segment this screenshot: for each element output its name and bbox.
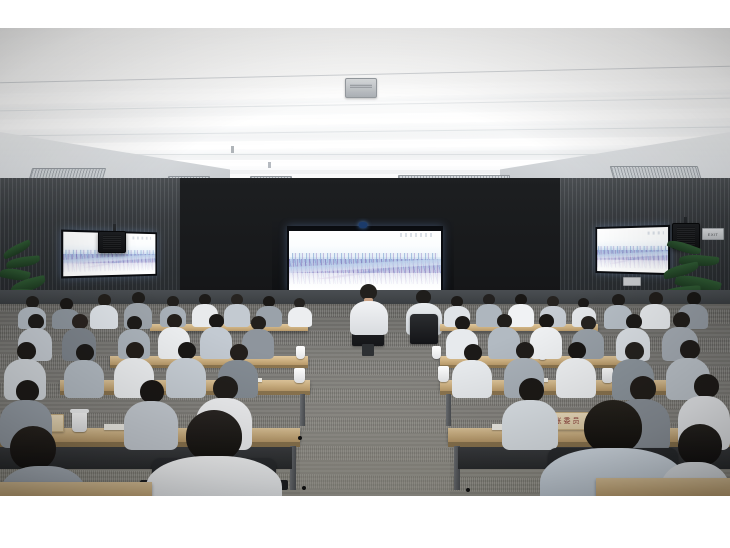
head <box>209 314 224 328</box>
head <box>186 410 242 462</box>
head <box>516 342 534 359</box>
chair-caster-3 <box>298 436 302 440</box>
chair-caster-1 <box>302 486 306 490</box>
plant-left-leaf-2 <box>6 255 41 268</box>
torso <box>556 358 596 398</box>
head <box>167 314 182 328</box>
head <box>178 342 196 359</box>
cup-D3 <box>432 346 441 359</box>
screenshot-frame: EXIT <box>0 0 730 548</box>
main-screen-scene <box>289 228 441 290</box>
screen-logo-text <box>400 233 433 237</box>
head <box>584 400 642 454</box>
screen-camera-icon <box>359 222 368 228</box>
left-screen-logo <box>133 237 152 240</box>
right-screen-under-sign <box>623 277 641 286</box>
ceiling <box>0 28 730 196</box>
head <box>625 342 644 360</box>
head <box>127 316 142 330</box>
desk-C-right-leg <box>446 394 451 426</box>
left-scene-foreground <box>63 263 155 277</box>
chair-front-1-base <box>362 344 374 356</box>
head <box>680 340 700 359</box>
torso <box>146 456 282 496</box>
cup-C4 <box>438 366 449 382</box>
head <box>16 380 39 402</box>
ceiling-sensor-1 <box>231 146 234 153</box>
person-A1 <box>146 410 282 496</box>
person-C5 <box>452 344 492 396</box>
head <box>626 314 642 329</box>
head <box>581 316 596 330</box>
head <box>251 316 266 330</box>
person-presenter-1 <box>348 284 390 336</box>
speaker-left <box>98 231 126 253</box>
head <box>673 312 690 328</box>
head <box>678 424 722 466</box>
person-C7 <box>556 342 596 396</box>
torso <box>350 301 388 335</box>
head <box>28 314 44 329</box>
head <box>568 342 586 359</box>
cup-D2 <box>296 346 305 359</box>
head <box>630 376 656 401</box>
head <box>519 378 544 402</box>
head <box>464 344 482 361</box>
torso <box>452 360 492 398</box>
desk-row-A-left <box>0 482 152 496</box>
cup-B1-lid <box>70 409 89 413</box>
head <box>126 342 144 359</box>
letterbox-bottom <box>0 496 730 548</box>
head <box>72 314 88 329</box>
desk-C-left-leg <box>300 394 305 426</box>
head <box>416 290 431 304</box>
center-aisle <box>300 328 450 496</box>
head <box>76 344 94 361</box>
torso <box>288 307 312 327</box>
main-screen-bezel <box>289 228 441 231</box>
main-screen[interactable] <box>287 226 443 292</box>
head <box>497 314 512 328</box>
head <box>17 342 36 360</box>
desk-row-A-right <box>596 478 730 496</box>
chair-caster-2 <box>466 488 470 492</box>
head <box>539 314 554 328</box>
person-C1 <box>64 344 104 396</box>
head <box>230 344 248 361</box>
head <box>694 374 719 398</box>
conference-room-photo: EXIT <box>0 28 730 496</box>
ceiling-sensor-2 <box>268 162 271 168</box>
cup-C3 <box>294 368 305 383</box>
head <box>213 376 238 400</box>
chair-front-2 <box>410 314 438 344</box>
ceiling-projector-device <box>345 78 377 98</box>
person-E5 <box>288 298 312 326</box>
torso <box>64 360 104 398</box>
head <box>140 380 164 403</box>
letterbox-top <box>0 0 730 28</box>
head <box>10 426 56 470</box>
head <box>455 316 470 330</box>
